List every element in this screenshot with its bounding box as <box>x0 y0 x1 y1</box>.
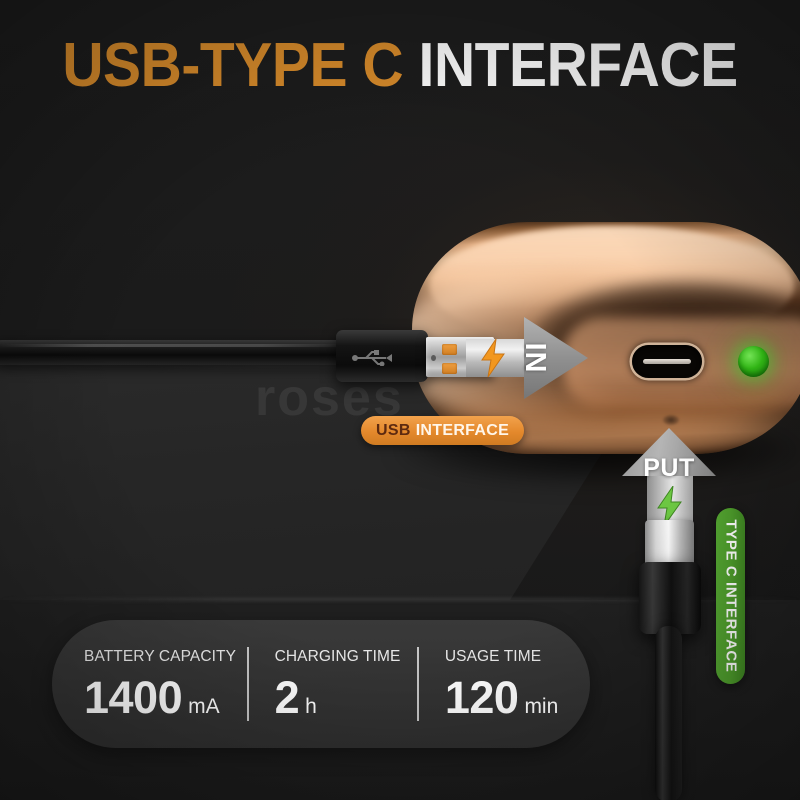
spec-number: 120 <box>445 675 519 720</box>
spec-unit: h <box>305 695 317 719</box>
usb-a-shell-hole <box>431 355 436 361</box>
arrow-in-label: IN <box>512 335 558 381</box>
usb-c-port-inner-bar <box>643 359 691 364</box>
spec-value: 2 h <box>275 675 417 720</box>
title-highlight: USB-TYPE C <box>62 31 403 100</box>
usb-interface-badge: USB INTERFACE <box>361 416 524 445</box>
usb-badge-prefix: USB <box>376 422 411 440</box>
spec-label: BATTERY CAPACITY <box>84 648 247 666</box>
title-rest: INTERFACE <box>419 31 738 100</box>
lightning-bolt-icon <box>480 339 506 377</box>
usb-a-contact-pad <box>442 363 457 374</box>
spec-item-charging-time: CHARGING TIME 2 h <box>249 648 417 720</box>
usb-a-cable-highlight <box>0 344 350 347</box>
usb-trident-icon <box>352 350 396 366</box>
spec-item-usage-time: USAGE TIME 120 min <box>419 648 590 720</box>
spec-value: 120 min <box>445 675 590 720</box>
arrow-put-label: PUT <box>622 454 716 483</box>
typec-badge-label: TYPE C INTERFACE <box>722 508 739 684</box>
product-feature-banner: USB-TYPE C INTERFACE roses <box>0 0 800 800</box>
spec-unit: mA <box>188 695 220 719</box>
input-arrow-right: IN <box>466 317 588 399</box>
usb-c-port <box>632 345 702 378</box>
spec-number: 2 <box>275 675 300 720</box>
spec-bar: BATTERY CAPACITY 1400 mA CHARGING TIME 2… <box>52 620 590 748</box>
spec-item-battery-capacity: BATTERY CAPACITY 1400 mA <box>52 648 247 720</box>
page-title: USB-TYPE C INTERFACE <box>32 30 768 102</box>
spec-value: 1400 mA <box>84 675 247 720</box>
usb-c-plug-housing <box>639 562 701 634</box>
usb-a-contact-pad <box>442 344 457 355</box>
spec-label: CHARGING TIME <box>275 648 417 666</box>
case-surface-detail <box>663 415 679 425</box>
green-led-indicator <box>738 346 769 377</box>
spec-number: 1400 <box>84 675 182 720</box>
usb-c-cable <box>655 626 682 800</box>
spec-label: USAGE TIME <box>445 648 590 666</box>
typec-interface-badge: TYPE C INTERFACE <box>716 508 745 684</box>
spec-unit: min <box>524 695 558 719</box>
usb-badge-suffix: INTERFACE <box>416 422 509 440</box>
